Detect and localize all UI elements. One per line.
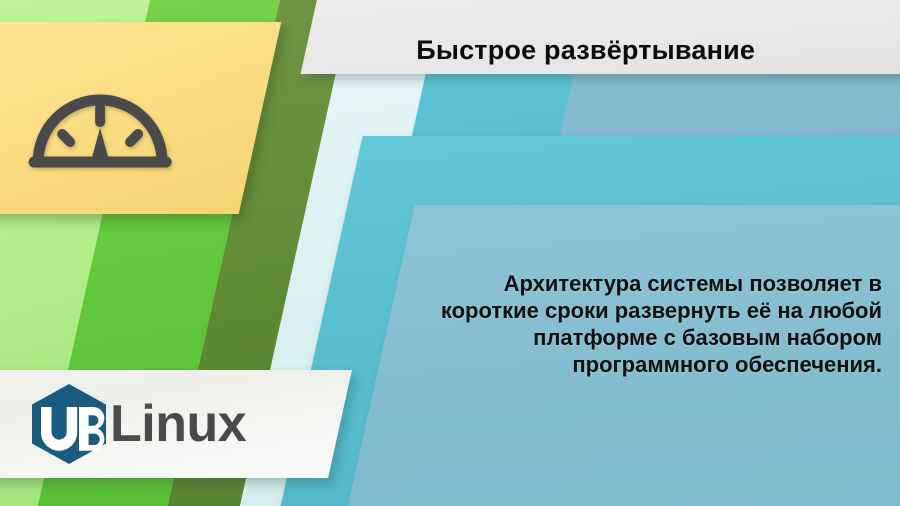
page-title: Быстрое развёртывание (306, 35, 900, 66)
ub-hexagon-icon (30, 383, 108, 465)
icon-panel (0, 22, 281, 214)
body-text: Архитектура системы позволяет в короткие… (400, 270, 882, 378)
logo-band: Linux (0, 370, 352, 478)
title-panel: Быстрое развёртывание (300, 0, 900, 74)
ublinux-logo: Linux (30, 384, 310, 464)
speedometer-gauge-icon (20, 50, 180, 185)
logo-wordmark: Linux (110, 398, 246, 450)
slide-canvas: Быстрое развёртывание Архитектура систем… (0, 0, 900, 506)
